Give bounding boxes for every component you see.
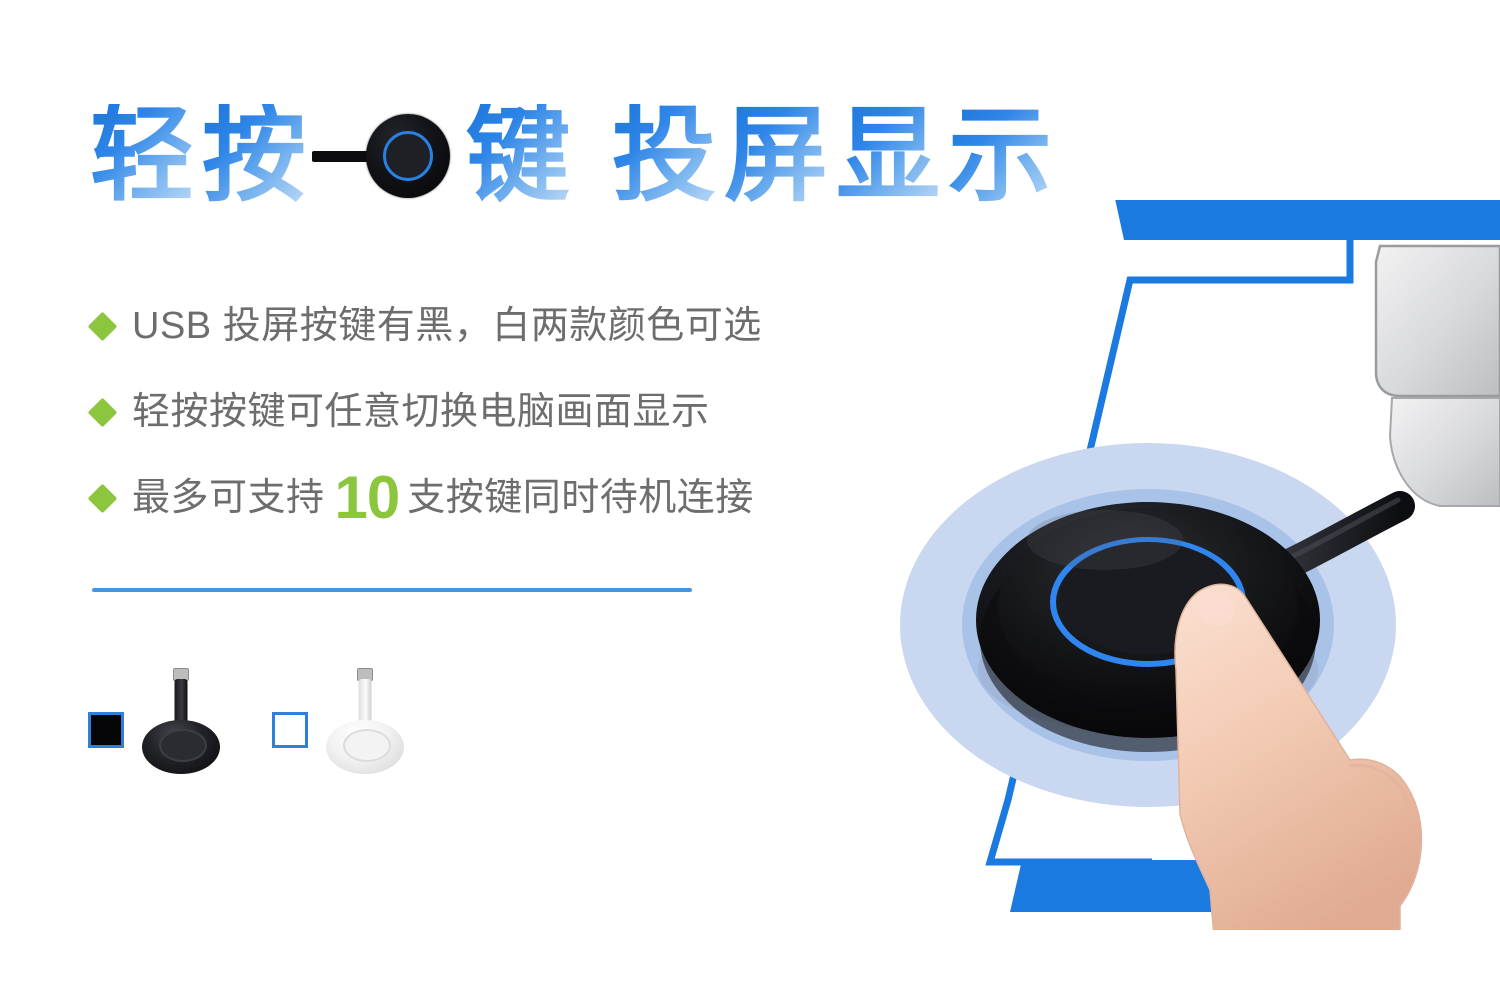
color-swatch-black[interactable] xyxy=(88,712,124,748)
max-devices-count: 10 xyxy=(325,468,408,528)
headline-char-7: 示 xyxy=(944,104,1056,208)
headline-char-2: 按 xyxy=(198,104,310,208)
headline-char-5: 屏 xyxy=(720,104,832,208)
product-photo xyxy=(880,200,1500,930)
headline-char-1: 轻 xyxy=(86,104,198,208)
dongle-puck-shape xyxy=(366,114,450,198)
list-item-label: USB 投屏按键有黑，白两款颜色可选 xyxy=(132,307,762,345)
laptop-lid xyxy=(1376,246,1500,396)
device-button-ring-shape xyxy=(343,729,391,762)
list-item: 最多可支持 10 支按键同时待机连接 xyxy=(92,455,972,541)
headline-char-4: 投 xyxy=(608,104,720,208)
device-thumbnail-black xyxy=(142,668,220,774)
color-option-list xyxy=(88,668,404,774)
photo-frame-band-top xyxy=(1124,200,1500,240)
headline-char-3: 键 xyxy=(462,104,574,208)
color-option-black[interactable] xyxy=(88,668,220,774)
diamond-bullet-icon xyxy=(88,483,118,513)
projection-dongle-icon xyxy=(310,104,460,208)
feature-list: USB 投屏按键有黑，白两款颜色可选 轻按按键可任意切换电脑画面显示 最多可支持… xyxy=(92,283,972,541)
list-item: USB 投屏按键有黑，白两款颜色可选 xyxy=(92,283,972,369)
laptop-base xyxy=(1390,398,1500,506)
color-option-white[interactable] xyxy=(272,668,404,774)
headline-char-6: 显 xyxy=(832,104,944,208)
page-title: 轻 按 键 投 屏 显 示 xyxy=(86,96,1056,216)
section-divider xyxy=(92,588,692,592)
list-item: 轻按按键可任意切换电脑画面显示 xyxy=(92,369,972,455)
device-gloss xyxy=(1027,510,1183,570)
device-thumbnail-white xyxy=(326,668,404,774)
diamond-bullet-icon xyxy=(88,311,118,341)
device-button-ring-shape xyxy=(159,729,207,762)
product-feature-banner: 轻 按 键 投 屏 显 示 USB 投屏按键有黑，白两款颜色可选 轻按按键可任意… xyxy=(0,0,1500,981)
list-item-label-prefix: 最多可支持 xyxy=(132,479,325,517)
list-item-label: 轻按按键可任意切换电脑画面显示 xyxy=(132,393,710,431)
diamond-bullet-icon xyxy=(88,397,118,427)
color-swatch-white[interactable] xyxy=(272,712,308,748)
list-item-label-suffix: 支按键同时待机连接 xyxy=(407,479,754,517)
